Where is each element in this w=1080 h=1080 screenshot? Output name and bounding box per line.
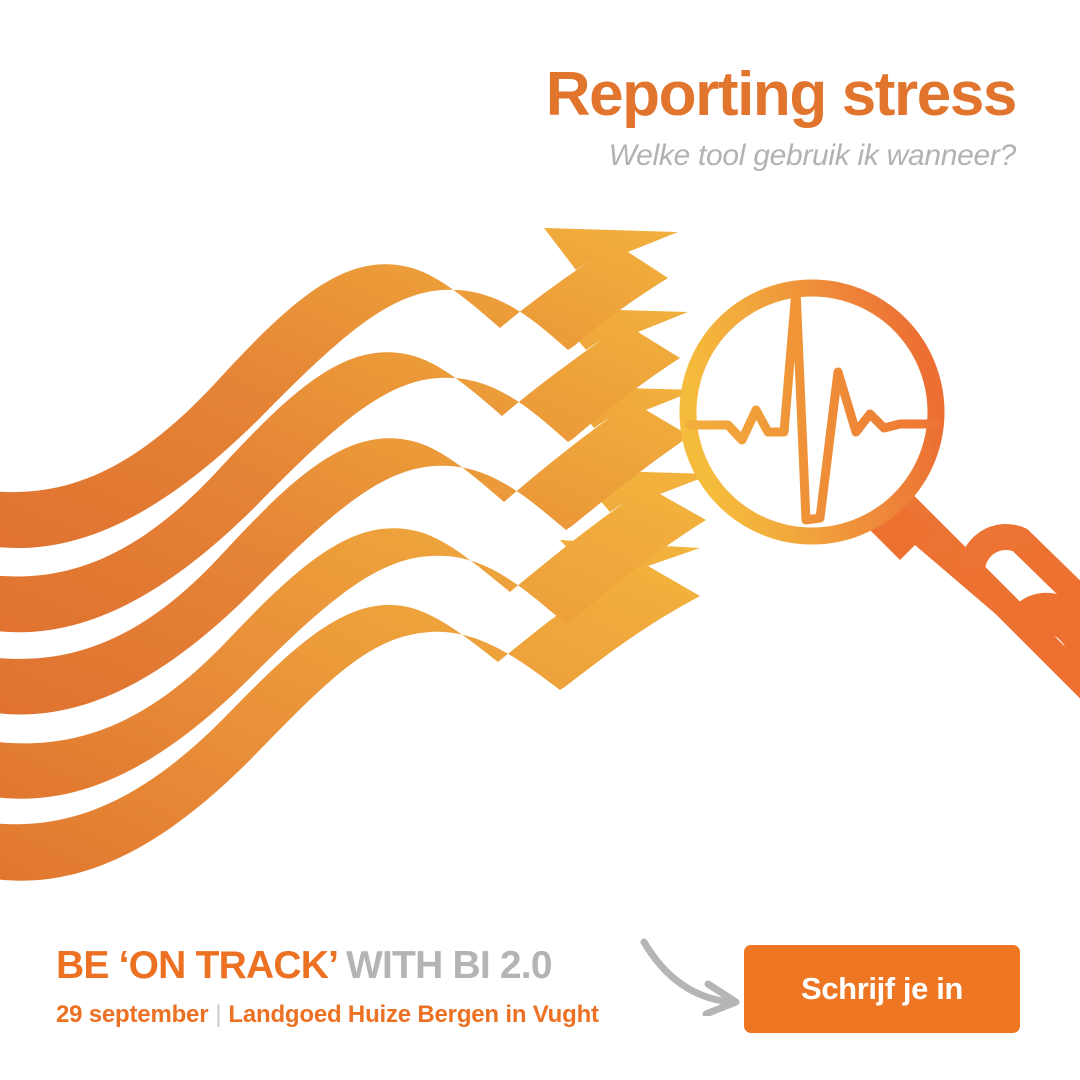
- ribbon-band-1: [0, 228, 678, 548]
- tagline-muted: WITH BI 2.0: [346, 944, 552, 987]
- signup-button[interactable]: Schrijf je in: [744, 945, 1020, 1033]
- event-tagline: BE ‘ON TRACK’ WITH BI 2.0: [56, 946, 599, 985]
- magnifier-handle: [888, 505, 1080, 700]
- rising-arrows-ribbon-icon: [0, 228, 712, 881]
- magnifier-heartbeat-icon: [688, 288, 1080, 700]
- magnifier-handle-joint: [852, 480, 930, 560]
- ribbon-band-4: [0, 470, 712, 799]
- event-separator: |: [208, 1001, 228, 1028]
- poster-header: Reporting stress Welke tool gebruik ik w…: [316, 62, 1016, 173]
- magnifier-handle-loop: [972, 537, 1080, 618]
- page-title: Reporting stress: [316, 62, 1016, 127]
- event-date: 29 september: [56, 1001, 208, 1028]
- poster-canvas: Reporting stress Welke tool gebruik ik w…: [0, 0, 1080, 1080]
- event-details: 29 september|Landgoed Huize Bergen in Vu…: [56, 1001, 599, 1029]
- magnifier-lens-ring: [688, 288, 936, 536]
- ribbon-band-2: [0, 308, 688, 632]
- page-subtitle: Welke tool gebruik ik wanneer?: [316, 139, 1016, 173]
- curved-arrow-right-icon: [636, 936, 756, 1016]
- ribbon-band-3: [0, 386, 696, 714]
- event-venue: Landgoed Huize Bergen in Vught: [228, 1001, 598, 1028]
- tagline-highlight: BE ‘ON TRACK’: [56, 944, 336, 987]
- heartbeat-trace: [690, 290, 936, 520]
- ribbon-band-5: [0, 540, 700, 881]
- footer-text-block: BE ‘ON TRACK’ WITH BI 2.0 29 september|L…: [56, 946, 599, 1029]
- magnifier-handle-stroke: [900, 500, 1080, 700]
